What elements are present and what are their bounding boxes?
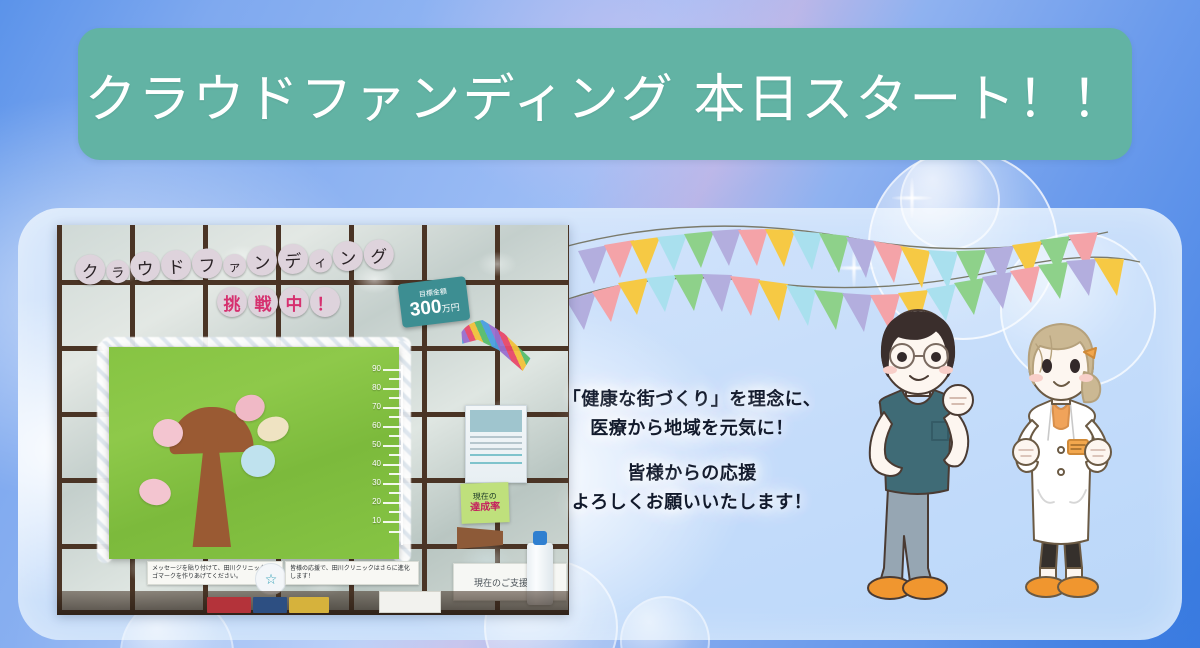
shelf-item (253, 597, 287, 613)
wall-sign-line-2: 挑 戦 中 ！ (217, 287, 340, 317)
sparkle-icon (822, 236, 886, 300)
message-line-1: 「健康な街づくり」を理念に、 (520, 385, 864, 414)
goal-amount: 300 (409, 296, 443, 321)
info-poster (465, 405, 527, 483)
message-line-2: 医療から地域を元気に！ (520, 414, 864, 443)
female-doctor-character (1013, 324, 1111, 597)
message-leaf (153, 419, 183, 447)
shelf-item (289, 597, 329, 613)
shelf-item (207, 597, 251, 613)
staff-illustration (840, 300, 1180, 630)
banner-title: クラウドファンディング 本日スタート！！ (85, 57, 1126, 132)
wall-sign-char: ク (74, 254, 106, 286)
message-leaf (241, 445, 275, 477)
wall-sign-char: ン (332, 240, 364, 272)
wall-sign-char: ィ (308, 249, 332, 273)
wall-sign-char: ウ (129, 251, 161, 283)
goal-amount-sign: 目標金額 300万円 (398, 276, 471, 328)
wall-sign-char: デ (277, 243, 309, 275)
gauge-label: 10 (372, 516, 381, 525)
wall-sign-char: ！ (310, 287, 340, 317)
goal-unit: 万円 (441, 301, 460, 313)
progress-gauge: 90 80 70 60 50 40 30 20 10 (373, 365, 407, 545)
message-block: 「健康な街づくり」を理念に、 医療から地域を元気に！ 皆様からの応援 よろしくお… (520, 385, 864, 518)
wall-sign-char: ン (246, 245, 278, 277)
gauge-axis (401, 365, 403, 545)
sparkle-icon (892, 178, 932, 218)
male-staff-character (868, 310, 973, 599)
wall-sign-char: 中 (279, 287, 309, 317)
message-line-3: 皆様からの応援 (520, 459, 864, 488)
clinic-photo: ク ラ ウ ド フ ァ ン デ ィ ン グ 挑 戦 中 ！ 目標金額 300万円 (57, 225, 569, 615)
achievement-rate-note: 現在の 達成率 (460, 482, 509, 524)
gauge-label: 60 (372, 421, 381, 430)
gauge-label: 50 (372, 440, 381, 449)
wall-sign-char: グ (363, 239, 395, 271)
message-line-4: よろしくお願いいたします！ (520, 488, 864, 517)
header-banner: クラウドファンディング 本日スタート！！ (78, 28, 1132, 160)
wall-sign-char: 戦 (248, 287, 278, 317)
poster-canvas: クラウドファンディング 本日スタート！！ (0, 0, 1200, 648)
gauge-label: 20 (372, 497, 381, 506)
wall-sign-char: ド (160, 249, 192, 281)
gauge-label: 70 (372, 402, 381, 411)
paper-tray (379, 591, 441, 613)
gauge-label: 80 (372, 383, 381, 392)
wall-sign-char: ァ (223, 253, 247, 277)
gauge-label: 30 (372, 478, 381, 487)
wall-sign-char: 挑 (217, 287, 247, 317)
instruction-note-right: 皆様の応援で、田川クリニックはさらに進化します！ (285, 561, 419, 585)
gauge-label: 40 (372, 459, 381, 468)
wall-sign-char: フ (191, 248, 223, 280)
achievement-note-line2: 達成率 (470, 501, 500, 513)
wall-sign-char: ラ (106, 260, 130, 284)
gauge-label: 90 (372, 364, 381, 373)
